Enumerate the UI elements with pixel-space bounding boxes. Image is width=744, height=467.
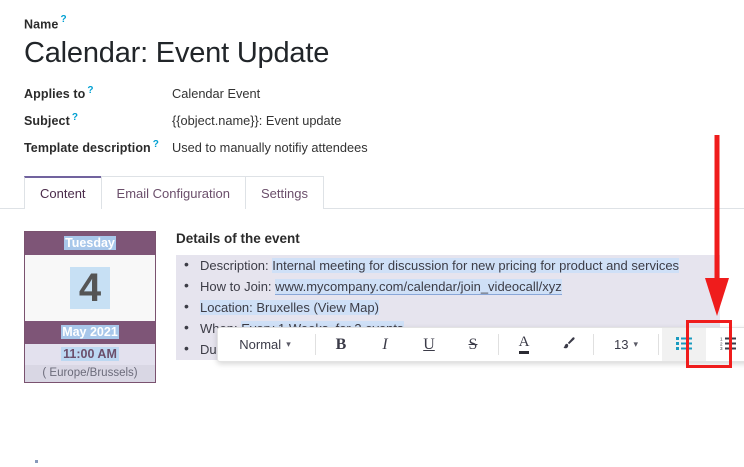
template-description-label-wrap: Template description? — [24, 139, 172, 155]
numbered-list-button[interactable]: 1 2 3 — [706, 328, 744, 361]
font-color-icon: A — [519, 335, 530, 354]
cursor-speck — [35, 460, 38, 463]
detail-label-how-to-join: How to Join: — [200, 279, 275, 294]
svg-text:3: 3 — [720, 346, 723, 350]
tab-email-configuration[interactable]: Email Configuration — [101, 176, 246, 209]
event-details-heading: Details of the event — [176, 231, 720, 246]
name-help-icon[interactable]: ? — [60, 14, 66, 25]
calendar-day-of-week-text: Tuesday — [64, 236, 116, 250]
calendar-month-year-text: May 2021 — [61, 325, 119, 339]
font-size-dropdown[interactable]: 13 ▾ — [597, 328, 655, 361]
notebook: Content Email Configuration Settings — [0, 175, 744, 209]
list-item[interactable]: Location: Bruxelles (View Map) — [176, 297, 720, 318]
list-item[interactable]: How to Join: www.mycompany.com/calendar/… — [176, 276, 720, 297]
calendar-day-number: 4 — [70, 267, 110, 309]
record-form-header: Name? Calendar: Event Update Applies to?… — [0, 0, 744, 155]
font-color-button[interactable]: A — [502, 328, 546, 361]
detail-value-join-link[interactable]: www.mycompany.com/calendar/join_videocal… — [275, 279, 562, 295]
paragraph-style-label: Normal — [239, 337, 281, 352]
bold-button[interactable]: B — [319, 328, 363, 361]
name-field-group: Name? Calendar: Event Update — [24, 14, 720, 71]
tab-list: Content Email Configuration Settings — [0, 175, 744, 208]
template-description-label: Template description — [24, 141, 151, 155]
chevron-down-icon: ▾ — [286, 339, 291, 350]
background-color-button[interactable] — [546, 328, 590, 361]
calendar-date-card: Tuesday 4 May 2021 11:00 AM ( Europe/Bru… — [24, 231, 156, 383]
list-item[interactable]: Description: Internal meeting for discus… — [176, 255, 720, 276]
subject-help-icon[interactable]: ? — [72, 112, 78, 123]
italic-button[interactable]: I — [363, 328, 407, 361]
toolbar-divider — [658, 334, 659, 355]
name-label-row: Name? — [24, 14, 720, 33]
toolbar-divider — [498, 334, 499, 355]
underline-icon: U — [423, 336, 435, 354]
paint-brush-icon — [561, 336, 576, 354]
detail-label-location: Location: — [200, 300, 256, 315]
numbered-list-icon: 1 2 3 — [720, 336, 736, 353]
applies-to-value[interactable]: Calendar Event — [172, 86, 260, 101]
subject-label-wrap: Subject? — [24, 112, 172, 128]
italic-icon: I — [382, 336, 387, 354]
subject-label: Subject — [24, 114, 70, 128]
toolbar-divider — [315, 334, 316, 355]
tab-content[interactable]: Content — [24, 176, 102, 209]
chevron-down-icon: ▾ — [633, 339, 638, 350]
bulleted-list-button[interactable] — [662, 328, 706, 361]
toolbar-divider — [593, 334, 594, 355]
bold-icon: B — [336, 336, 347, 354]
detail-label-description: Description: — [200, 258, 272, 273]
calendar-time-text: 11:00 AM — [61, 347, 119, 361]
applies-to-label: Applies to — [24, 87, 85, 101]
subject-value[interactable]: {{object.name}}: Event update — [172, 113, 341, 128]
font-size-label: 13 — [614, 337, 628, 352]
paragraph-style-dropdown[interactable]: Normal ▾ — [218, 328, 312, 361]
rich-text-toolbar[interactable]: Normal ▾ B I U S A 13 ▾ — [217, 327, 744, 362]
template-description-value[interactable]: Used to manually notifiy attendees — [172, 140, 368, 155]
tab-settings[interactable]: Settings — [245, 176, 324, 209]
strikethrough-icon: S — [469, 336, 478, 354]
applies-to-label-wrap: Applies to? — [24, 85, 172, 101]
calendar-timezone: ( Europe/Brussels) — [25, 365, 155, 382]
detail-value-location[interactable]: Bruxelles (View Map) — [256, 300, 379, 315]
strikethrough-button[interactable]: S — [451, 328, 495, 361]
calendar-day-body: 4 — [25, 255, 155, 321]
name-label: Name — [24, 17, 58, 31]
calendar-day-of-week: Tuesday — [25, 232, 155, 255]
field-row-template-description: Template description? Used to manually n… — [24, 139, 720, 155]
calendar-month-year: May 2021 — [25, 321, 155, 344]
field-row-applies-to: Applies to? Calendar Event — [24, 85, 720, 101]
applies-to-help-icon[interactable]: ? — [87, 85, 93, 96]
bulleted-list-icon — [676, 336, 692, 353]
detail-value-description: Internal meeting for discussion for new … — [272, 258, 679, 273]
calendar-time: 11:00 AM — [25, 344, 155, 365]
field-row-subject: Subject? {{object.name}}: Event update — [24, 112, 720, 128]
underline-button[interactable]: U — [407, 328, 451, 361]
page-title: Calendar: Event Update — [24, 37, 720, 70]
template-description-help-icon[interactable]: ? — [153, 139, 159, 150]
